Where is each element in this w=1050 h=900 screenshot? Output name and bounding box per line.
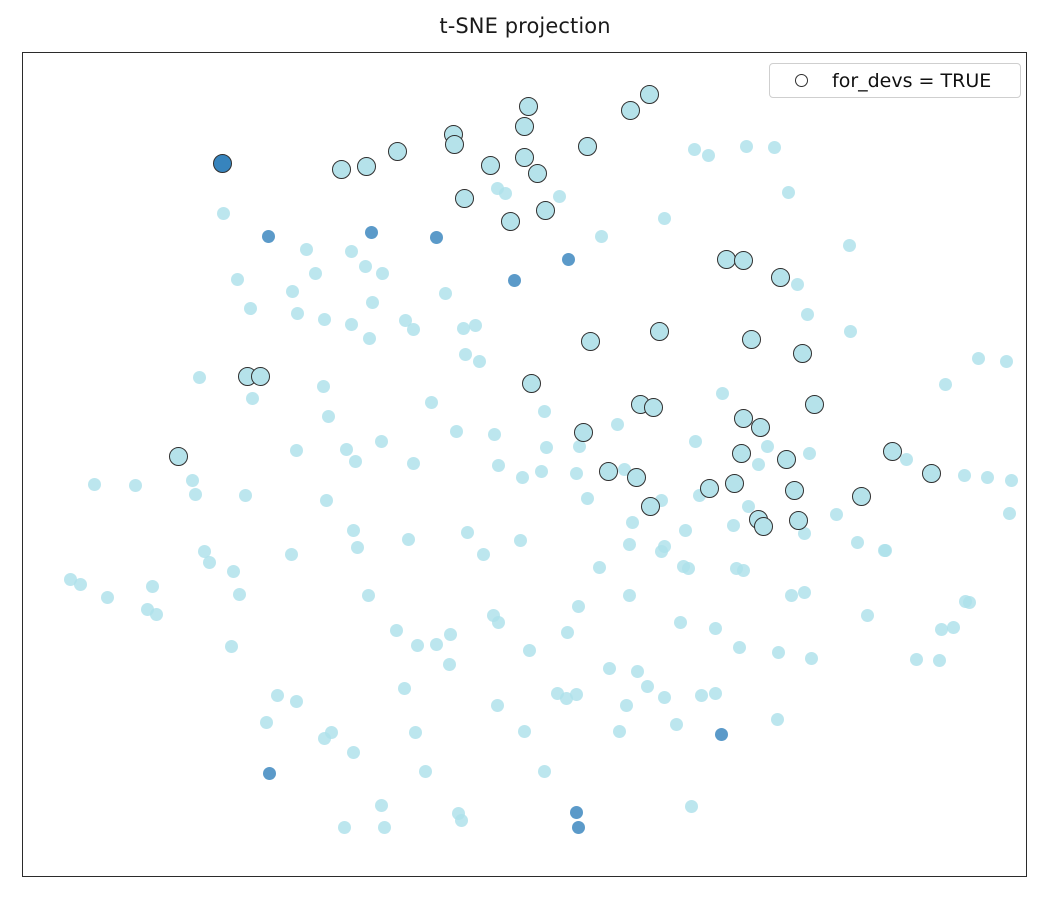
scatter-point — [844, 325, 857, 338]
scatter-point — [338, 821, 351, 834]
scatter-point — [227, 565, 240, 578]
scatter-point — [947, 621, 960, 634]
scatter-point — [878, 544, 891, 557]
scatter-point-highlight — [621, 101, 640, 120]
scatter-point — [349, 455, 362, 468]
scatter-point — [225, 640, 238, 653]
scatter-point — [658, 691, 671, 704]
scatter-point-highlight — [536, 201, 555, 220]
scatter-point-highlight — [717, 250, 736, 269]
scatter-point — [260, 716, 273, 729]
scatter-point — [623, 538, 636, 551]
scatter-point-highlight — [574, 423, 593, 442]
scatter-point — [688, 143, 701, 156]
scatter-point — [679, 524, 692, 537]
scatter-point — [322, 410, 335, 423]
scatter-point — [244, 302, 257, 315]
scatter-point — [715, 728, 728, 741]
scatter-point — [378, 821, 391, 834]
scatter-point — [231, 273, 244, 286]
scatter-point — [411, 639, 424, 652]
scatter-point-highlight — [599, 462, 618, 481]
scatter-point — [325, 726, 338, 739]
scatter-point — [593, 561, 606, 574]
scatter-point — [300, 243, 313, 256]
scatter-point-highlight — [805, 395, 824, 414]
scatter-point-highlight — [852, 487, 871, 506]
scatter-point — [613, 725, 626, 738]
scatter-point — [239, 489, 252, 502]
scatter-point — [933, 654, 946, 667]
scatter-point-highlight — [641, 497, 660, 516]
scatter-point — [419, 765, 432, 778]
scatter-point — [689, 435, 702, 448]
scatter-point — [262, 230, 275, 243]
scatter-point-highlight — [455, 189, 474, 208]
scatter-point-highlight — [627, 468, 646, 487]
scatter-point — [457, 322, 470, 335]
scatter-point — [425, 396, 438, 409]
scatter-point — [562, 253, 575, 266]
scatter-point — [402, 533, 415, 546]
scatter-point-highlight — [515, 148, 534, 167]
scatter-point — [553, 190, 566, 203]
scatter-point — [538, 405, 551, 418]
scatter-point — [540, 441, 553, 454]
open-circle-icon — [795, 74, 808, 87]
scatter-point — [347, 524, 360, 537]
scatter-point — [570, 467, 583, 480]
scatter-point — [217, 207, 230, 220]
scatter-point — [363, 332, 376, 345]
scatter-point — [407, 323, 420, 336]
scatter-point — [473, 355, 486, 368]
scatter-point — [150, 608, 163, 621]
scatter-point — [972, 352, 985, 365]
scatter-point — [233, 588, 246, 601]
scatter-point — [459, 348, 472, 361]
scatter-point — [101, 591, 114, 604]
scatter-point — [290, 695, 303, 708]
scatter-point — [189, 488, 202, 501]
scatter-point — [286, 285, 299, 298]
scatter-point-highlight — [883, 442, 902, 461]
scatter-point — [461, 526, 474, 539]
scatter-point — [641, 680, 654, 693]
scatter-point-highlight — [251, 367, 270, 386]
scatter-point — [318, 313, 331, 326]
scatter-point — [620, 699, 633, 712]
legend-label: for_devs = TRUE — [832, 70, 991, 92]
scatter-point-highlight — [734, 409, 753, 428]
scatter-point — [430, 231, 443, 244]
scatter-point — [935, 623, 948, 636]
scatter-point — [340, 443, 353, 456]
scatter-point — [362, 589, 375, 602]
scatter-point — [88, 478, 101, 491]
scatter-point — [958, 469, 971, 482]
scatter-point — [626, 516, 639, 529]
scatter-point — [782, 186, 795, 199]
scatter-point — [430, 638, 443, 651]
tsne-scatter-figure: t-SNE projection for_devs = TRUE — [0, 0, 1050, 900]
scatter-point — [359, 260, 372, 273]
scatter-point — [450, 425, 463, 438]
scatter-point — [843, 239, 856, 252]
scatter-point — [702, 149, 715, 162]
scatter-point — [768, 141, 781, 154]
scatter-point — [488, 428, 501, 441]
scatter-point — [455, 814, 468, 827]
scatter-point — [492, 616, 505, 629]
scatter-point — [670, 718, 683, 731]
scatter-point — [514, 534, 527, 547]
scatter-point-highlight — [700, 479, 719, 498]
scatter-point — [317, 380, 330, 393]
scatter-point — [771, 713, 784, 726]
scatter-point — [716, 387, 729, 400]
scatter-point — [685, 800, 698, 813]
scatter-point-highlight — [644, 398, 663, 417]
scatter-point — [129, 479, 142, 492]
scatter-point — [674, 616, 687, 629]
legend-marker-cell — [770, 74, 832, 87]
scatter-point-highlight — [481, 156, 500, 175]
scatter-point — [390, 624, 403, 637]
scatter-point — [193, 371, 206, 384]
scatter-point — [572, 600, 585, 613]
scatter-point-highlight — [357, 157, 376, 176]
scatter-point-highlight — [522, 374, 541, 393]
scatter-point — [375, 799, 388, 812]
scatter-point — [538, 765, 551, 778]
scatter-point — [581, 492, 594, 505]
scatter-point — [469, 319, 482, 332]
scatter-point — [603, 662, 616, 675]
scatter-point-highlight — [388, 142, 407, 161]
scatter-point-highlight — [732, 444, 751, 463]
scatter-point — [186, 474, 199, 487]
scatter-point-highlight — [515, 117, 534, 136]
scatter-point-highlight — [519, 97, 538, 116]
scatter-point — [443, 658, 456, 671]
scatter-point — [623, 589, 636, 602]
scatter-point — [477, 548, 490, 561]
scatter-point — [791, 278, 804, 291]
scatter-point-highlight — [332, 160, 351, 179]
scatter-point-highlight — [501, 212, 520, 231]
scatter-point-highlight — [754, 517, 773, 536]
scatter-point — [345, 245, 358, 258]
scatter-point — [798, 586, 811, 599]
scatter-point — [535, 465, 548, 478]
scatter-point — [290, 444, 303, 457]
scatter-point — [785, 589, 798, 602]
scatter-point — [409, 726, 422, 739]
scatter-point-highlight — [640, 85, 659, 104]
legend[interactable]: for_devs = TRUE — [769, 63, 1021, 98]
plot-area: for_devs = TRUE — [22, 52, 1027, 877]
scatter-point — [733, 641, 746, 654]
scatter-point — [523, 644, 536, 657]
scatter-point — [830, 508, 843, 521]
scatter-point — [805, 652, 818, 665]
scatter-point — [518, 725, 531, 738]
scatter-point-highlight — [725, 474, 744, 493]
scatter-point — [516, 471, 529, 484]
scatter-point — [851, 536, 864, 549]
scatter-point — [203, 556, 216, 569]
scatter-point — [772, 646, 785, 659]
scatter-point — [677, 560, 690, 573]
scatter-point — [752, 458, 765, 471]
scatter-point — [376, 267, 389, 280]
scatter-point — [611, 418, 624, 431]
scatter-point-highlight — [578, 137, 597, 156]
scatter-point — [444, 628, 457, 641]
scatter-point — [963, 596, 976, 609]
page-title: t-SNE projection — [0, 14, 1050, 38]
scatter-point — [146, 580, 159, 593]
scatter-point — [1000, 355, 1013, 368]
scatter-point-highlight — [922, 464, 941, 483]
scatter-point — [74, 578, 87, 591]
scatter-point — [1005, 474, 1018, 487]
scatter-point — [246, 392, 259, 405]
scatter-point — [508, 274, 521, 287]
scatter-point — [761, 440, 774, 453]
scatter-point — [861, 609, 874, 622]
scatter-point-highlight — [777, 450, 796, 469]
scatter-point — [345, 318, 358, 331]
scatter-point — [801, 308, 814, 321]
scatter-point-highlight — [581, 332, 600, 351]
scatter-point — [347, 746, 360, 759]
scatter-point — [309, 267, 322, 280]
scatter-point — [939, 378, 952, 391]
scatter-point — [492, 459, 505, 472]
scatter-point — [561, 626, 574, 639]
scatter-points-layer — [23, 53, 1026, 876]
scatter-point-highlight — [650, 322, 669, 341]
scatter-point — [570, 688, 583, 701]
scatter-point — [727, 519, 740, 532]
scatter-point — [595, 230, 608, 243]
scatter-point-highlight — [793, 344, 812, 363]
scatter-point — [439, 287, 452, 300]
scatter-point — [291, 307, 304, 320]
scatter-point — [320, 494, 333, 507]
scatter-point — [981, 471, 994, 484]
scatter-point-highlight — [169, 447, 188, 466]
scatter-point — [572, 821, 585, 834]
legend-entry-for-devs-true[interactable]: for_devs = TRUE — [770, 70, 1020, 92]
scatter-point — [655, 545, 668, 558]
scatter-point — [695, 689, 708, 702]
scatter-point-highlight — [445, 135, 464, 154]
scatter-point — [1003, 507, 1016, 520]
scatter-point — [803, 447, 816, 460]
scatter-point — [398, 682, 411, 695]
scatter-point-highlight — [742, 330, 761, 349]
scatter-point-highlight — [734, 251, 753, 270]
scatter-point — [709, 687, 722, 700]
scatter-point — [737, 564, 750, 577]
scatter-point — [365, 226, 378, 239]
scatter-point — [910, 653, 923, 666]
scatter-point — [263, 767, 276, 780]
scatter-point-highlight — [785, 481, 804, 500]
scatter-point — [491, 699, 504, 712]
scatter-point — [740, 140, 753, 153]
scatter-point — [491, 182, 504, 195]
scatter-point — [570, 806, 583, 819]
scatter-point — [271, 689, 284, 702]
scatter-point — [366, 296, 379, 309]
scatter-point — [351, 541, 364, 554]
scatter-point — [407, 457, 420, 470]
scatter-point — [631, 665, 644, 678]
scatter-point-highlight — [751, 418, 770, 437]
scatter-point-highlight — [528, 164, 547, 183]
scatter-point-highlight — [213, 154, 232, 173]
scatter-point — [658, 212, 671, 225]
scatter-point — [709, 622, 722, 635]
scatter-point-highlight — [771, 268, 790, 287]
scatter-point — [375, 435, 388, 448]
scatter-point-highlight — [789, 511, 808, 530]
scatter-point — [285, 548, 298, 561]
